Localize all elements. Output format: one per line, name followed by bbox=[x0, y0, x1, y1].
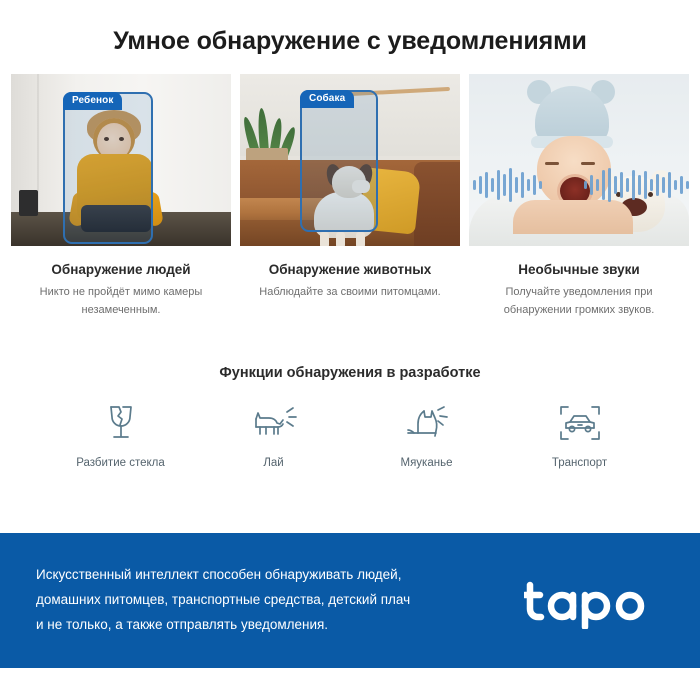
detection-tag-label: Ребенок bbox=[63, 92, 122, 110]
card-text-people: Никто не пройдёт мимо камеры незамеченны… bbox=[11, 283, 231, 319]
card-title-people: Обнаружение людей bbox=[11, 262, 231, 277]
card-title-pets: Обнаружение животных bbox=[240, 262, 460, 277]
feature-vehicle: Транспорт bbox=[503, 403, 656, 469]
upcoming-features-heading: Функции обнаружения в разработке bbox=[0, 365, 700, 381]
scene-baby-sound bbox=[469, 74, 689, 246]
barking-dog-icon bbox=[197, 403, 350, 443]
feature-label-vehicle: Транспорт bbox=[503, 457, 656, 469]
card-people-detection: Ребенок Обнаружение людей Никто не пройд… bbox=[11, 74, 231, 319]
card-text-pets: Наблюдайте за своими питомцами. bbox=[240, 283, 460, 301]
feature-card-row: Ребенок Обнаружение людей Никто не пройд… bbox=[0, 56, 700, 319]
broken-glass-icon bbox=[44, 403, 197, 443]
card-pet-detection: Собака Обнаружение животных Наблюдайте з… bbox=[240, 74, 460, 319]
detection-tag-label: Собака bbox=[300, 90, 354, 108]
footer-line-1: Искусственный интеллект способен обнаруж… bbox=[36, 563, 516, 588]
sound-waveform-left bbox=[473, 166, 542, 204]
photo-toddler-hallway: Ребенок bbox=[11, 74, 231, 246]
feature-label-meowing: Мяуканье bbox=[350, 457, 503, 469]
footer-description: Искусственный интеллект способен обнаруж… bbox=[36, 563, 516, 638]
detection-box-dog: Собака bbox=[300, 90, 378, 232]
feature-barking: Лай bbox=[197, 403, 350, 469]
card-text-sounds: Получайте уведомления при обнаружении гр… bbox=[469, 283, 689, 319]
footer-line-2: домашних питомцев, транспортные средства… bbox=[36, 588, 516, 613]
footer-line-3: и не только, а также отправлять уведомле… bbox=[36, 613, 516, 638]
speaker-object bbox=[19, 190, 38, 216]
detection-box-child: Ребенок bbox=[63, 92, 153, 244]
tapo-logo bbox=[524, 573, 664, 629]
card-title-sounds: Необычные звуки bbox=[469, 262, 689, 277]
card-sound-detection: Необычные звуки Получайте уведомления пр… bbox=[469, 74, 689, 319]
feature-label-barking: Лай bbox=[197, 457, 350, 469]
footer-banner: Искусственный интеллект способен обнаруж… bbox=[0, 533, 700, 668]
photo-yawning-baby bbox=[469, 74, 689, 246]
sound-waveform-right bbox=[584, 166, 689, 204]
meowing-cat-icon bbox=[350, 403, 503, 443]
upcoming-features-row: Разбитие стекла Лай bbox=[0, 403, 700, 469]
feature-meowing: Мяуканье bbox=[350, 403, 503, 469]
feature-glass-break: Разбитие стекла bbox=[44, 403, 197, 469]
page-title: Умное обнаружение с уведомлениями bbox=[0, 0, 700, 56]
vehicle-detection-icon bbox=[503, 403, 656, 443]
feature-label-glass-break: Разбитие стекла bbox=[44, 457, 197, 469]
photo-dog-sofa: Собака bbox=[240, 74, 460, 246]
